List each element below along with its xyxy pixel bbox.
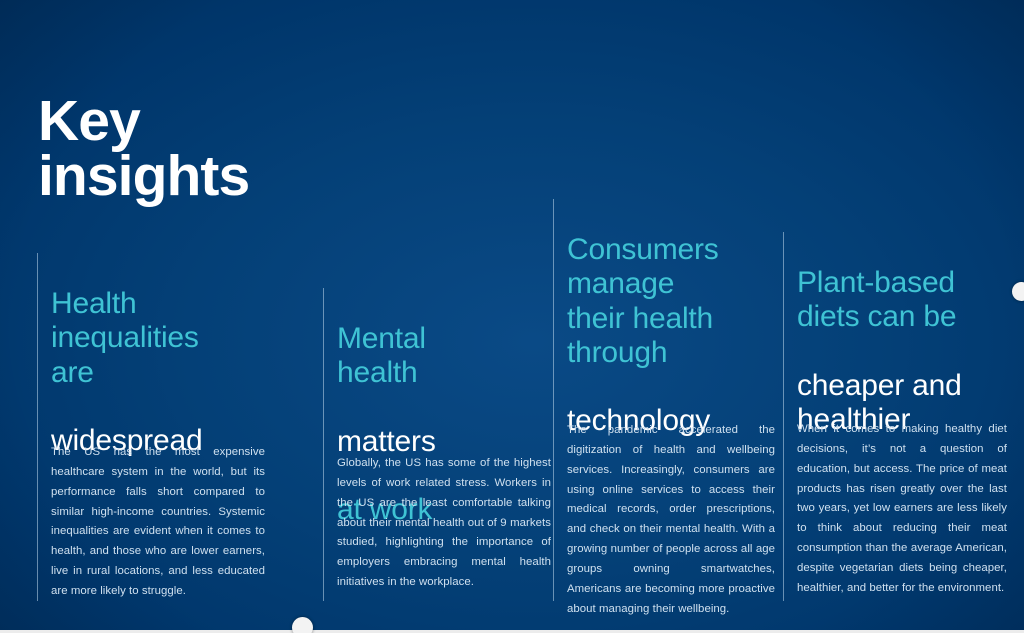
horizontal-scroll-handle[interactable] (292, 617, 313, 633)
column-heading-accent: Plant-based diets can be (797, 266, 1007, 334)
vertical-scroll-handle[interactable] (1012, 282, 1024, 301)
insight-column-mental-health: Mental health matters at work Globally, … (323, 288, 551, 601)
column-body-text: Globally, the US has some of the highest… (337, 454, 551, 593)
column-heading-accent: Health inequalities are (51, 287, 265, 390)
insight-column-plant-based-diets: Plant-based diets can be cheaper and hea… (783, 232, 1007, 601)
column-body-text: The US has the most expensive healthcare… (51, 443, 265, 602)
slide-canvas: Key insights Health inequalities are wid… (0, 0, 1024, 633)
column-heading-accent: Consumers manage their health through (567, 233, 775, 370)
page-title: Key insights (38, 94, 458, 203)
insight-column-consumers-technology: Consumers manage their health through te… (553, 199, 775, 601)
column-body-text: The pandemic accelerated the digitizatio… (567, 421, 775, 619)
insight-column-health-inequalities: Health inequalities are widespread The U… (37, 253, 265, 601)
column-body-text: When it comes to making healthy diet dec… (797, 420, 1007, 599)
column-heading-accent: Mental health (337, 322, 551, 390)
